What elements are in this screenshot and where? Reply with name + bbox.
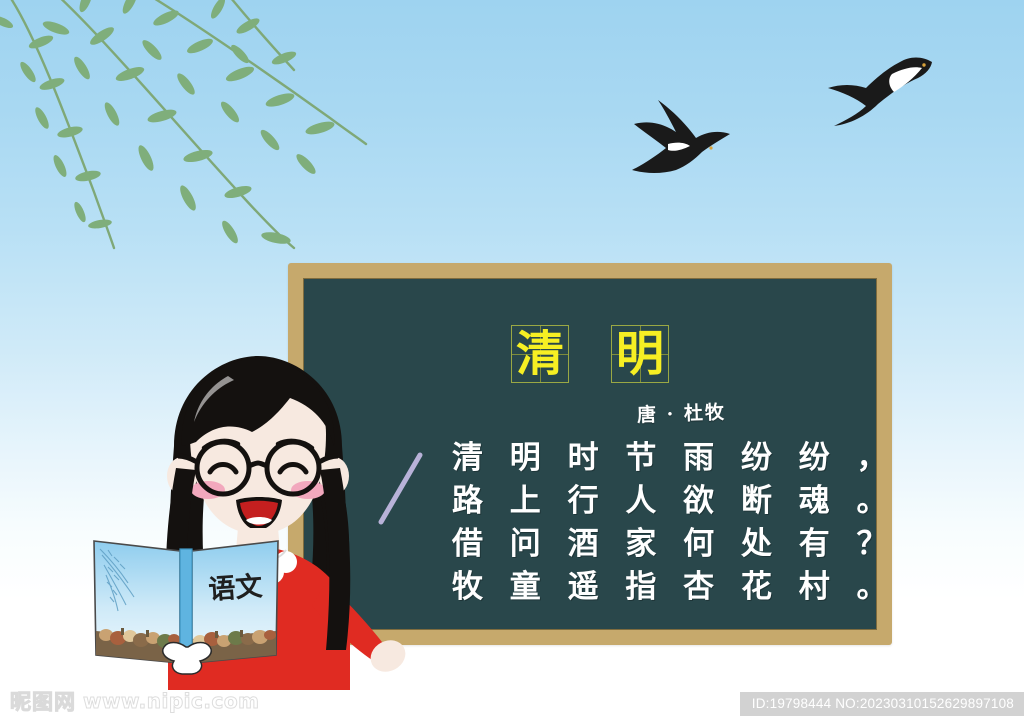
poem-body: 清 明 时 节 雨 纷 纷 ， 路 上 行 人 欲 断 魂 。 借 问 酒 家 … — [452, 437, 816, 609]
poem-line-3: 借 问 酒 家 何 处 有 ？ — [452, 523, 816, 566]
hand-holding-book — [163, 643, 212, 675]
watermark-url: www.nipic.com — [83, 689, 259, 713]
poem-line-1: 清 明 时 节 雨 纷 纷 ， — [452, 437, 816, 480]
watermark: 昵图网 www.nipic.com — [10, 686, 259, 716]
pointer-stick — [372, 452, 424, 530]
poem-line-2: 路 上 行 人 欲 断 魂 。 — [452, 480, 816, 523]
open-book: 语文 — [88, 535, 284, 680]
watermark-logo: 昵图网 — [10, 686, 76, 716]
willow-branches — [0, 0, 374, 272]
title-char-2: 明 — [612, 326, 668, 382]
swallow-icon-left — [628, 98, 738, 180]
title-grid-cell-2: 明 — [611, 325, 669, 383]
title-char-1: 清 — [512, 326, 568, 382]
poem-author: 唐 · 杜牧 — [637, 397, 727, 427]
title-grid-cell-1: 清 — [511, 325, 569, 383]
image-id-bar: ID:19798444 NO:20230310152629897108 — [740, 692, 1024, 716]
poem-line-4: 牧 童 遥 指 杏 花 村 。 — [452, 566, 816, 609]
book-subject-label: 语文 — [207, 570, 264, 606]
swallow-icon-right — [818, 52, 934, 130]
poster-canvas: 清 明 唐 · 杜牧 清 明 时 节 雨 纷 纷 ， 路 上 行 人 欲 断 魂… — [0, 0, 1024, 724]
